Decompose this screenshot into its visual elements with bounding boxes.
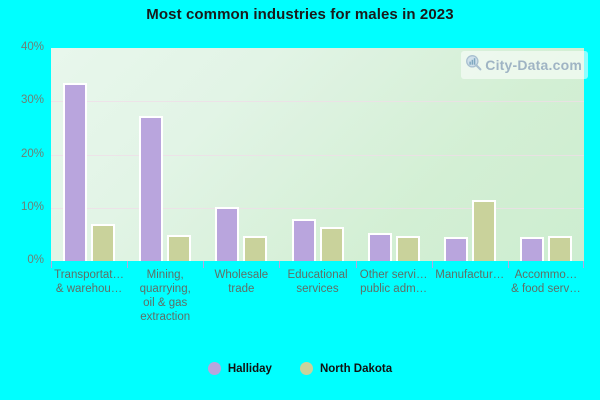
legend-label: North Dakota xyxy=(320,363,392,375)
bars-layer xyxy=(51,48,584,261)
x-axis-tick-label: Accommo… & food serv… xyxy=(508,268,584,296)
x-axis: Transportat… & warehou…Mining, quarrying… xyxy=(51,261,584,356)
x-axis-tick-mark xyxy=(51,261,52,268)
x-axis-tick-mark xyxy=(356,261,357,268)
bar-halliday xyxy=(63,83,87,261)
bar-halliday xyxy=(444,237,468,261)
bar-north-dakota xyxy=(472,200,496,261)
page-title: Most common industries for males in 2023 xyxy=(0,6,600,23)
legend-swatch-icon xyxy=(208,362,221,375)
x-axis-tick-mark xyxy=(279,261,280,268)
y-axis-tick-label: 40% xyxy=(0,41,44,53)
bar-north-dakota xyxy=(243,236,267,261)
x-axis-tick-mark xyxy=(432,261,433,268)
x-axis-tick-label: Mining, quarrying, oil & gas extraction xyxy=(127,268,203,324)
x-axis-tick-mark xyxy=(583,261,584,268)
chart-legend: HallidayNorth Dakota xyxy=(0,362,600,375)
y-axis-tick-label: 10% xyxy=(0,201,44,213)
x-axis-tick-mark xyxy=(203,261,204,268)
bar-north-dakota xyxy=(396,236,420,261)
bar-halliday xyxy=(139,116,163,261)
x-axis-tick-mark xyxy=(127,261,128,268)
bar-north-dakota xyxy=(91,224,115,261)
legend-swatch-icon xyxy=(300,362,313,375)
x-axis-tick-label: Educational services xyxy=(279,268,355,296)
watermark-text: City-Data.com xyxy=(485,57,582,73)
bar-north-dakota xyxy=(320,227,344,261)
watermark: City-Data.com xyxy=(461,51,588,79)
y-axis-tick-label: 30% xyxy=(0,94,44,106)
legend-item[interactable]: North Dakota xyxy=(300,362,392,375)
bar-north-dakota xyxy=(167,235,191,261)
x-axis-tick-label: Transportat… & warehou… xyxy=(51,268,127,296)
bar-halliday xyxy=(520,237,544,261)
bar-halliday xyxy=(368,233,392,261)
bar-north-dakota xyxy=(548,236,572,261)
y-axis-tick-label: 20% xyxy=(0,148,44,160)
magnifier-bar-chart-icon xyxy=(465,54,482,76)
x-axis-tick-label: Wholesale trade xyxy=(203,268,279,296)
bar-halliday xyxy=(292,219,316,261)
legend-item[interactable]: Halliday xyxy=(208,362,272,375)
y-axis-tick-label: 0% xyxy=(0,254,44,266)
legend-label: Halliday xyxy=(228,363,272,375)
bar-halliday xyxy=(215,207,239,261)
x-axis-tick-mark xyxy=(508,261,509,268)
x-axis-tick-label: Other servi… public adm… xyxy=(356,268,432,296)
x-axis-tick-label: Manufactur… xyxy=(432,268,508,282)
